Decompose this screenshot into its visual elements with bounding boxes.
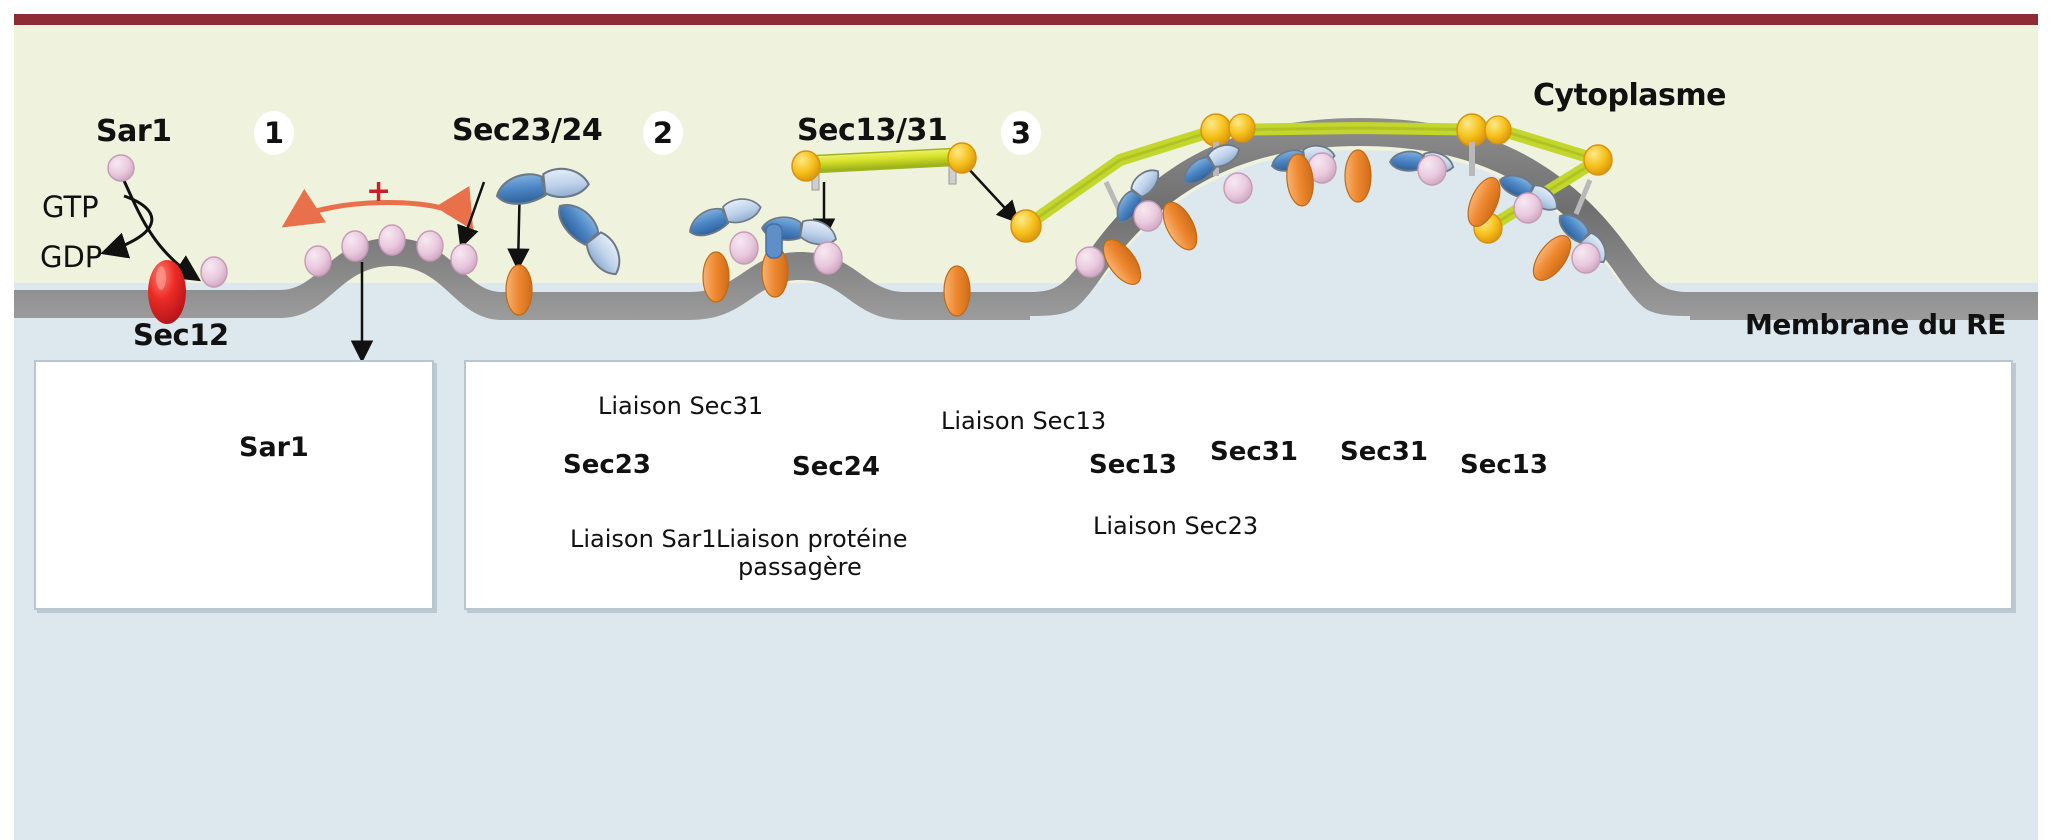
label-plus-sign: + [366, 174, 391, 209]
sar1-recruited-particle [201, 257, 227, 287]
label-sec2324: Sec23/24 [452, 113, 602, 148]
label-sar1-top: Sar1 [96, 114, 172, 149]
step-badge-1: 1 [254, 111, 294, 155]
label-membrane-re: Membrane du RE [1745, 308, 2006, 341]
panel-label-sec23: Sec23 [563, 450, 651, 480]
pointer-sec1331-b [966, 166, 1016, 220]
sec2324-free-2 [552, 194, 629, 281]
step-badge-2: 2 [643, 111, 683, 155]
label-cytoplasme: Cytoplasme [1533, 78, 1726, 113]
panel-label-sec13-right: Sec13 [1460, 450, 1548, 480]
panel-label-sar1: Sar1 [239, 432, 309, 463]
panel-label-sec24: Sec24 [792, 452, 880, 482]
panel-label-sec31-right: Sec31 [1340, 437, 1428, 467]
panel-label-liaison-sec23: Liaison Sec23 [1093, 512, 1258, 540]
sec2324-free-1 [495, 166, 590, 206]
label-sec1331: Sec13/31 [797, 113, 947, 148]
label-gtp: GTP [42, 190, 99, 224]
label-sec12: Sec12 [133, 318, 229, 352]
sec12-protein [148, 260, 186, 324]
panel-label-liaison-sar1: Liaison Sar1 [570, 525, 717, 553]
figure-canvas: Sar1 Sec12 Sec23/24 Sec13/31 Cytoplasme … [0, 0, 2052, 840]
sec1331-free-rod [792, 143, 976, 190]
panel-label-sec31-left: Sec31 [1210, 437, 1298, 467]
label-gdp: GDP [40, 240, 102, 274]
panel-label-liaison-sec13: Liaison Sec13 [941, 407, 1106, 435]
panel-label-sec13-left: Sec13 [1089, 450, 1177, 480]
panel-label-liaison-sec31: Liaison Sec31 [598, 392, 763, 420]
sar1-to-membrane-arrow [120, 172, 196, 278]
panel-label-liaison-proteine: Liaison protéine [716, 525, 908, 553]
step-badge-3: 3 [1001, 111, 1041, 155]
pointer-sec2324-a [462, 182, 484, 244]
sar1-free-particle [108, 155, 134, 181]
panel-label-liaison-proteine-2: passagère [738, 553, 862, 581]
panel-sar1-insertion [34, 360, 434, 610]
